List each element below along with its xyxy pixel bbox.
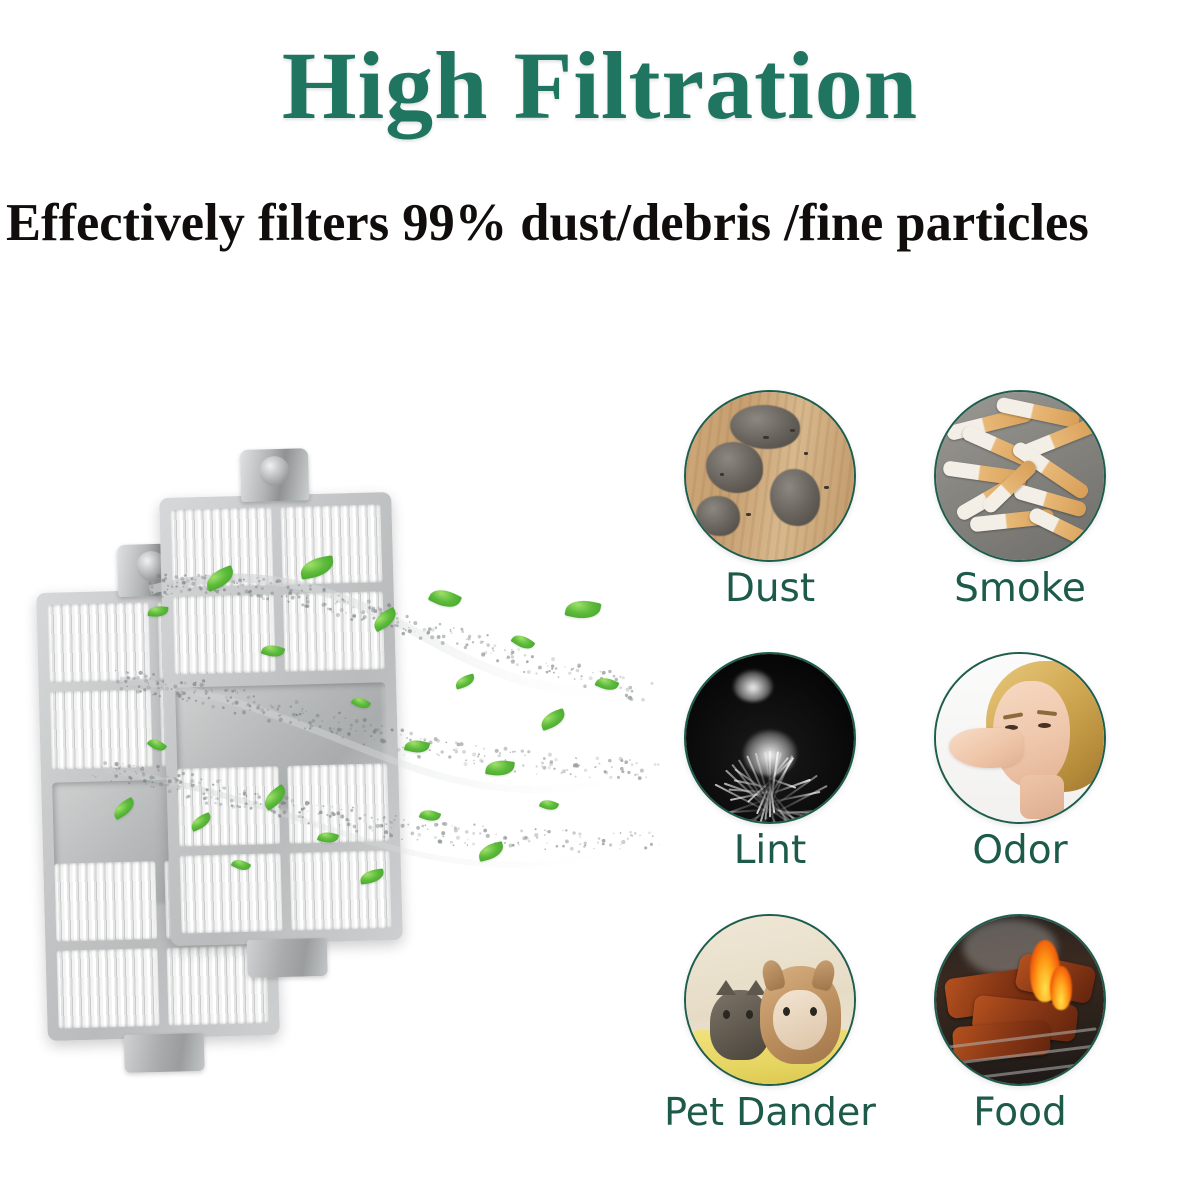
filtered-items-grid: Dust Smoke <box>645 390 1185 1180</box>
odor-label: Odor <box>895 831 1145 872</box>
dust-label: Dust <box>645 569 895 610</box>
leaf-icon <box>538 708 568 731</box>
pleat-panel <box>57 948 160 1029</box>
smoke-icon <box>934 390 1106 562</box>
filter-bottom-tab-icon <box>247 938 328 978</box>
lint-icon <box>684 652 856 824</box>
food-art <box>936 916 1104 1084</box>
pleat-panel <box>50 689 153 770</box>
pet-dander-art <box>686 916 854 1084</box>
dust-icon <box>684 390 856 562</box>
product-image <box>0 440 660 1140</box>
filtered-item-food[interactable]: Food <box>895 914 1145 1164</box>
filtered-item-odor[interactable]: Odor <box>895 652 1145 902</box>
leaf-icon <box>595 674 620 694</box>
filtered-item-pet-dander[interactable]: Pet Dander <box>645 914 895 1164</box>
filter-top-tab-icon <box>240 448 309 502</box>
lint-label: Lint <box>645 831 895 872</box>
smoke-art <box>936 392 1104 560</box>
filtered-item-smoke[interactable]: Smoke <box>895 390 1145 640</box>
odor-art <box>936 654 1104 822</box>
leaf-icon <box>564 597 601 623</box>
page-subtitle: Effectively filters 99% dust/debris /fin… <box>6 196 1184 252</box>
pleat-panel <box>173 594 276 675</box>
pet-dander-icon <box>684 914 856 1086</box>
odor-icon <box>934 652 1106 824</box>
dust-art <box>686 392 854 560</box>
leaf-icon <box>485 758 515 778</box>
smoke-label: Smoke <box>895 569 1145 610</box>
pleat-panel <box>280 504 383 585</box>
filter-bottom-tab-icon <box>124 1033 205 1073</box>
filtered-item-dust[interactable]: Dust <box>645 390 895 640</box>
pleat-panel <box>289 850 392 931</box>
pleat-panel <box>54 861 157 942</box>
food-icon <box>934 914 1106 1086</box>
pet-dander-label: Pet Dander <box>645 1093 895 1133</box>
leaf-icon <box>511 631 536 653</box>
leaf-icon <box>539 797 559 813</box>
filtered-item-lint[interactable]: Lint <box>645 652 895 902</box>
leaf-icon <box>419 807 442 824</box>
leaf-icon <box>404 737 430 755</box>
leaf-icon <box>477 841 506 862</box>
lint-art <box>686 654 854 822</box>
infographic-canvas: High Filtration Effectively filters 99% … <box>0 0 1200 1200</box>
food-label: Food <box>895 1093 1145 1134</box>
page-title: High Filtration <box>0 38 1200 134</box>
pleat-panel <box>287 763 390 844</box>
pleat-panel <box>47 602 150 683</box>
pleat-panel <box>282 591 385 672</box>
leaf-icon <box>428 584 462 612</box>
leaf-icon <box>454 673 476 689</box>
